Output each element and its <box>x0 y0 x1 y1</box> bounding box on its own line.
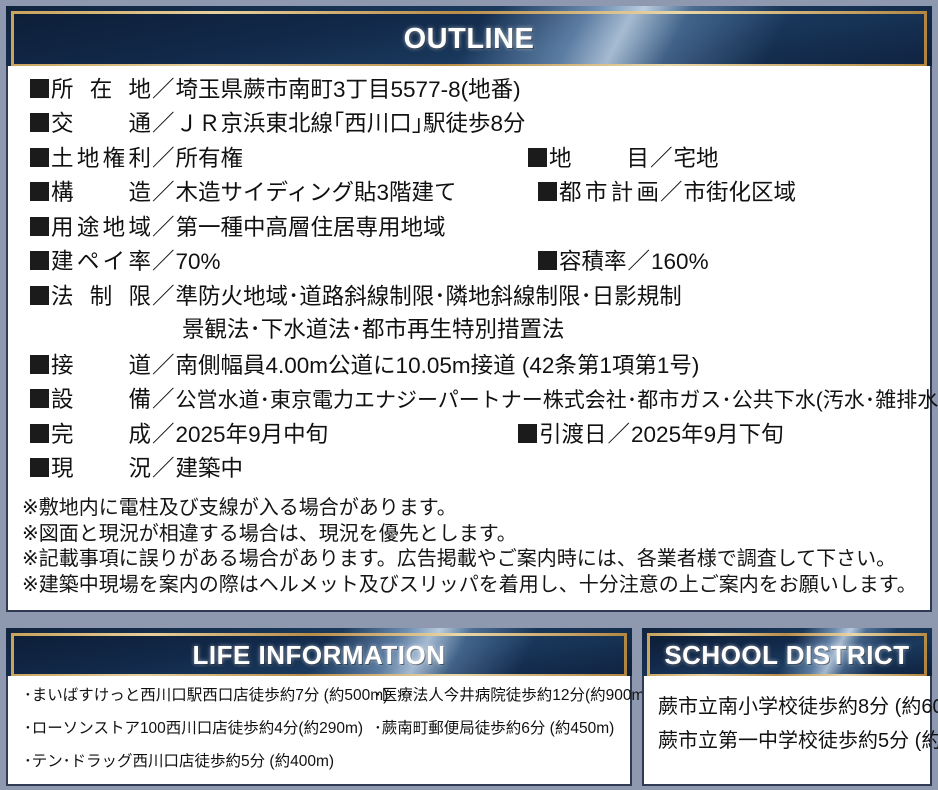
outline-panel: OUTLINE 所 在 地 ／ 埼玉県蕨市南町3丁目5577-8(地番) 交 通… <box>6 6 932 612</box>
row-label-right: 都市計画 <box>559 182 659 205</box>
row-value: ＪＲ京浜東北線｢西川口｣駅徒歩8分 <box>176 113 526 136</box>
list-item: ･医療法人今井病院徒歩約12分(約900m) <box>374 688 650 704</box>
row-separator: ／ <box>151 458 176 481</box>
row-label-right: 容積率 <box>559 251 627 274</box>
school-district-banner-title: SCHOOL DISTRICT <box>664 640 909 671</box>
life-information-panel: LIFE INFORMATION ･まいばすけっと西川口駅西口店徒歩約7分 (約… <box>6 628 632 786</box>
list-item: ･蕨南町郵便局徒歩約6分 (約450m) <box>374 721 614 737</box>
table-row: 用途地域 ／ 第一種中高層住居専用地域 <box>22 216 916 250</box>
square-bullet-icon <box>538 251 557 270</box>
life-information-banner-title: LIFE INFORMATION <box>192 640 445 671</box>
row-label: 構 造 <box>51 182 151 205</box>
table-row: 法 制 限 ／ 準防火地域･道路斜線制限･隣地斜線制限･日影規制 <box>22 285 916 319</box>
row-value: 建築中 <box>176 458 244 481</box>
row-separator-right: ／ <box>659 182 684 205</box>
row-value: 準防火地域･道路斜線制限･隣地斜線制限･日影規制 <box>176 286 682 309</box>
school-district-body: 蕨市立南小学校徒歩約8分 (約600m) 蕨市立第一中学校徒歩約5分 (約400… <box>642 676 932 786</box>
table-row-continuation: 景観法･下水道法･都市再生特別措置法 <box>22 319 916 354</box>
outline-banner: OUTLINE <box>6 6 932 66</box>
outline-banner-title: OUTLINE <box>404 23 535 56</box>
table-row: 現 況 ／ 建築中 <box>22 457 916 491</box>
row-label: 接 道 <box>51 355 151 378</box>
note-line: ※記載事項に誤りがある場合があります。広告掲載やご案内時には、各業者様で調査して… <box>22 547 917 573</box>
square-bullet-icon <box>30 389 49 408</box>
outline-spec-list: 所 在 地 ／ 埼玉県蕨市南町3丁目5577-8(地番) 交 通 ／ ＪＲ京浜東… <box>22 78 916 491</box>
row-label-right: 地 目 <box>549 148 649 171</box>
square-bullet-icon <box>30 148 49 167</box>
row-label: 法 制 限 <box>51 286 151 309</box>
square-bullet-icon <box>30 424 49 443</box>
row-value: 南側幅員4.00m公道に10.05m接道 (42条第1項第1号) <box>176 355 700 378</box>
row-label: 建ペイ率 <box>51 251 151 274</box>
note-line: ※敷地内に電柱及び支線が入る場合があります。 <box>22 496 917 522</box>
table-row: 構 造 ／ 木造サイディング貼3階建て 都市計画 ／ 市街化区域 <box>22 181 916 216</box>
row-value: 70% <box>176 251 221 274</box>
row-value: 埼玉県蕨市南町3丁目5577-8(地番) <box>176 79 521 102</box>
row-label: 土地権利 <box>51 148 151 171</box>
life-information-banner: LIFE INFORMATION <box>6 628 632 676</box>
row-separator: ／ <box>151 286 176 309</box>
row-value: 第一種中高層住居専用地域 <box>176 217 446 240</box>
row-value-right: 市街化区域 <box>684 182 797 205</box>
life-information-banner-frame: LIFE INFORMATION <box>11 633 627 676</box>
row-label: 現 況 <box>51 458 151 481</box>
law-continuation-text: 景観法･下水道法･都市再生特別措置法 <box>182 319 565 342</box>
row-separator-right: ／ <box>627 251 652 274</box>
row-separator-right: ／ <box>607 424 632 447</box>
school-district-banner-frame: SCHOOL DISTRICT <box>647 633 927 676</box>
row-value: 2025年9月中旬 <box>176 424 329 447</box>
row-label: 用途地域 <box>51 217 151 240</box>
row-value-right: 160% <box>651 251 709 274</box>
table-row: 交 通 ／ ＪＲ京浜東北線｢西川口｣駅徒歩8分 <box>22 112 916 147</box>
row-label: 設 備 <box>51 389 151 412</box>
square-bullet-icon <box>30 113 49 132</box>
table-row: 土地権利 ／ 所有権 地 目 ／ 宅地 <box>22 147 916 181</box>
school-district-panel: SCHOOL DISTRICT 蕨市立南小学校徒歩約8分 (約600m) 蕨市立… <box>642 628 932 786</box>
square-bullet-icon <box>518 424 537 443</box>
outline-notes: ※敷地内に電柱及び支線が入る場合があります。 ※図面と現況が相違する場合は、現況… <box>22 496 917 598</box>
row-separator: ／ <box>151 113 176 136</box>
list-item: 蕨市立第一中学校徒歩約5分 (約400m) <box>658 724 920 758</box>
table-row: 建ペイ率 ／ 70% 容積率 ／ 160% <box>22 250 916 285</box>
square-bullet-icon <box>30 286 49 305</box>
row-separator: ／ <box>151 355 176 378</box>
list-item: ･ローソンストア100西川口店徒歩約4分(約290m) <box>24 721 363 737</box>
square-bullet-icon <box>30 251 49 270</box>
row-label: 完 成 <box>51 424 151 447</box>
square-bullet-icon <box>30 182 49 201</box>
outline-body: 所 在 地 ／ 埼玉県蕨市南町3丁目5577-8(地番) 交 通 ／ ＪＲ京浜東… <box>6 66 932 612</box>
row-separator: ／ <box>151 182 176 205</box>
row-label: 所 在 地 <box>51 79 151 102</box>
row-separator: ／ <box>151 389 176 412</box>
row-value-right: 宅地 <box>674 148 719 171</box>
square-bullet-icon <box>30 79 49 98</box>
list-item: ･テン･ドラッグ西川口店徒歩約5分 (約400m) <box>24 754 334 770</box>
square-bullet-icon <box>30 458 49 477</box>
row-label-right: 引渡日 <box>539 424 607 447</box>
square-bullet-icon <box>538 182 557 201</box>
outline-banner-frame: OUTLINE <box>11 11 927 66</box>
row-separator: ／ <box>151 251 176 274</box>
row-value-right: 2025年9月下旬 <box>631 424 784 447</box>
square-bullet-icon <box>528 148 547 167</box>
row-value: 所有権 <box>176 148 244 171</box>
list-item: ･まいばすけっと西川口駅西口店徒歩約7分 (約500m) <box>24 688 388 704</box>
table-row: 所 在 地 ／ 埼玉県蕨市南町3丁目5577-8(地番) <box>22 78 916 112</box>
square-bullet-icon <box>30 355 49 374</box>
row-separator: ／ <box>151 217 176 240</box>
note-line: ※図面と現況が相違する場合は、現況を優先とします。 <box>22 522 917 548</box>
square-bullet-icon <box>30 217 49 236</box>
life-information-body: ･まいばすけっと西川口駅西口店徒歩約7分 (約500m) ･ローソンストア100… <box>6 676 632 786</box>
row-separator: ／ <box>151 148 176 171</box>
row-value: 公営水道･東京電力エナジーパートナー株式会社･都市ガス･公共下水(汚水･雑排水･… <box>176 390 938 411</box>
school-district-banner: SCHOOL DISTRICT <box>642 628 932 676</box>
list-item: 蕨市立南小学校徒歩約8分 (約600m) <box>658 690 920 724</box>
table-row: 設 備 ／ 公営水道･東京電力エナジーパートナー株式会社･都市ガス･公共下水(汚… <box>22 388 916 423</box>
row-separator-right: ／ <box>649 148 674 171</box>
table-row: 完 成 ／ 2025年9月中旬 引渡日 ／ 2025年9月下旬 <box>22 423 916 457</box>
row-separator: ／ <box>151 424 176 447</box>
row-label: 交 通 <box>51 113 151 136</box>
row-value: 木造サイディング貼3階建て <box>176 182 457 205</box>
row-separator: ／ <box>151 79 176 102</box>
table-row: 接 道 ／ 南側幅員4.00m公道に10.05m接道 (42条第1項第1号) <box>22 354 916 388</box>
note-line: ※建築中現場を案内の際はヘルメット及びスリッパを着用し、十分注意の上ご案内をお願… <box>22 573 917 599</box>
